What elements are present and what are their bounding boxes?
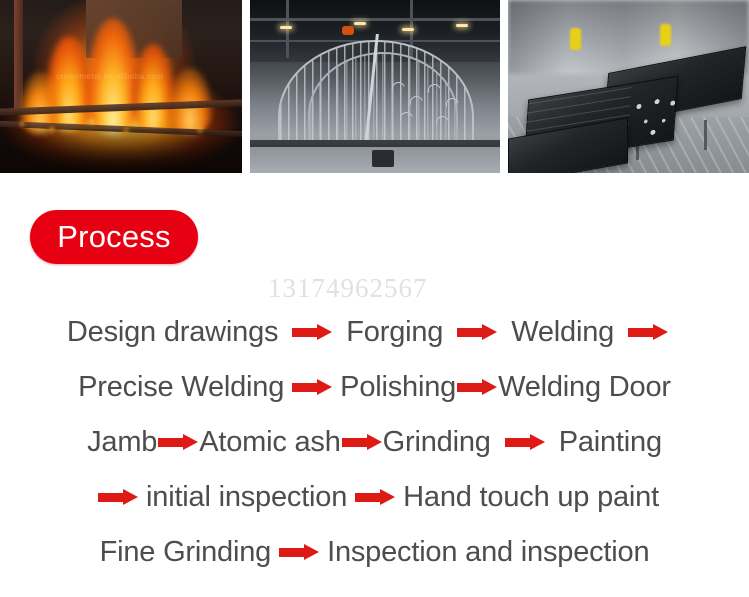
arrow-right-icon bbox=[457, 379, 497, 396]
arrow-head bbox=[482, 379, 497, 395]
arrow-right-icon bbox=[279, 544, 319, 561]
forging-fire-photo: crownmetal.en.alibaba.com bbox=[0, 0, 242, 173]
process-badge: Process bbox=[30, 210, 198, 264]
process-step: Inspection and inspection bbox=[327, 538, 649, 567]
roof-column bbox=[286, 0, 289, 58]
arrow-head bbox=[367, 434, 382, 450]
arrow-right-icon bbox=[355, 489, 395, 506]
arrow-shaft bbox=[457, 328, 483, 337]
arrow-right-icon bbox=[457, 324, 497, 341]
arrow-shaft bbox=[98, 493, 124, 502]
arrow-head bbox=[317, 324, 332, 340]
arrow-right-icon bbox=[505, 434, 545, 451]
flow-line-1: Design drawingsForgingWelding bbox=[0, 305, 749, 360]
arrow-shaft bbox=[505, 438, 531, 447]
process-step: Jamb bbox=[87, 428, 157, 457]
flow-line-3: JambAtomic ashGrindingPainting bbox=[0, 415, 749, 470]
trestle-leg bbox=[704, 120, 707, 150]
process-step: Forging bbox=[346, 318, 443, 347]
worker-figure bbox=[570, 28, 581, 50]
forge-hearth-shadow bbox=[0, 129, 242, 173]
floor-cart bbox=[372, 150, 394, 167]
ceiling-lamp bbox=[402, 28, 414, 31]
flow-line-4: initial inspectionHand touch up paint bbox=[0, 470, 749, 525]
arrow-shaft bbox=[279, 548, 305, 557]
flow-line-2: Precise WeldingPolishingWelding Door bbox=[0, 360, 749, 415]
door-ornament bbox=[624, 89, 685, 145]
phone-watermark: 13174962567 bbox=[268, 273, 428, 304]
arrow-head bbox=[482, 324, 497, 340]
ceiling-lamp bbox=[354, 22, 366, 25]
process-step: Fine Grinding bbox=[100, 538, 272, 567]
process-step: Welding bbox=[511, 318, 614, 347]
ceiling-lamp bbox=[280, 26, 292, 29]
arrow-right-icon bbox=[158, 434, 198, 451]
arrow-head bbox=[183, 434, 198, 450]
process-step: Welding Door bbox=[498, 373, 671, 402]
arrow-right-icon bbox=[342, 434, 382, 451]
process-step: Atomic ash bbox=[199, 428, 340, 457]
process-step: Precise Welding bbox=[78, 373, 284, 402]
process-section: Process 13174962567 Design drawingsForgi… bbox=[0, 173, 749, 597]
flow-line-5: Fine GrindingInspection and inspection bbox=[0, 525, 749, 580]
arrow-shaft bbox=[457, 383, 483, 392]
painted-doors-photo bbox=[508, 0, 749, 173]
photo-watermark: crownmetal.en.alibaba.com bbox=[56, 72, 163, 81]
arrow-head bbox=[530, 434, 545, 450]
arrow-right-icon bbox=[292, 379, 332, 396]
arrow-shaft bbox=[158, 438, 184, 447]
welded-arch-frame-photo bbox=[250, 0, 500, 173]
arrow-right-icon bbox=[98, 489, 138, 506]
ceiling-lamp bbox=[456, 24, 468, 27]
worker-figure bbox=[660, 24, 671, 46]
arrow-right-icon bbox=[628, 324, 668, 341]
arrow-head bbox=[304, 544, 319, 560]
process-step: Polishing bbox=[340, 373, 456, 402]
worker-figure bbox=[342, 26, 354, 35]
process-step: Design drawings bbox=[67, 318, 278, 347]
arrow-right-icon bbox=[292, 324, 332, 341]
arrow-shaft bbox=[342, 438, 368, 447]
photo-strip: crownmetal.en.alibaba.com bbox=[0, 0, 749, 173]
process-step: Hand touch up paint bbox=[403, 483, 659, 512]
process-step: Painting bbox=[559, 428, 662, 457]
process-step: initial inspection bbox=[146, 483, 347, 512]
process-step: Grinding bbox=[383, 428, 491, 457]
process-badge-label: Process bbox=[57, 221, 170, 254]
arrow-shaft bbox=[355, 493, 381, 502]
process-flow: Design drawingsForgingWeldingPrecise Wel… bbox=[0, 305, 749, 580]
arrow-head bbox=[123, 489, 138, 505]
arrow-head bbox=[317, 379, 332, 395]
arrow-shaft bbox=[628, 328, 654, 337]
arrow-shaft bbox=[292, 328, 318, 337]
arrow-shaft bbox=[292, 383, 318, 392]
arrow-head bbox=[380, 489, 395, 505]
arrow-head bbox=[653, 324, 668, 340]
